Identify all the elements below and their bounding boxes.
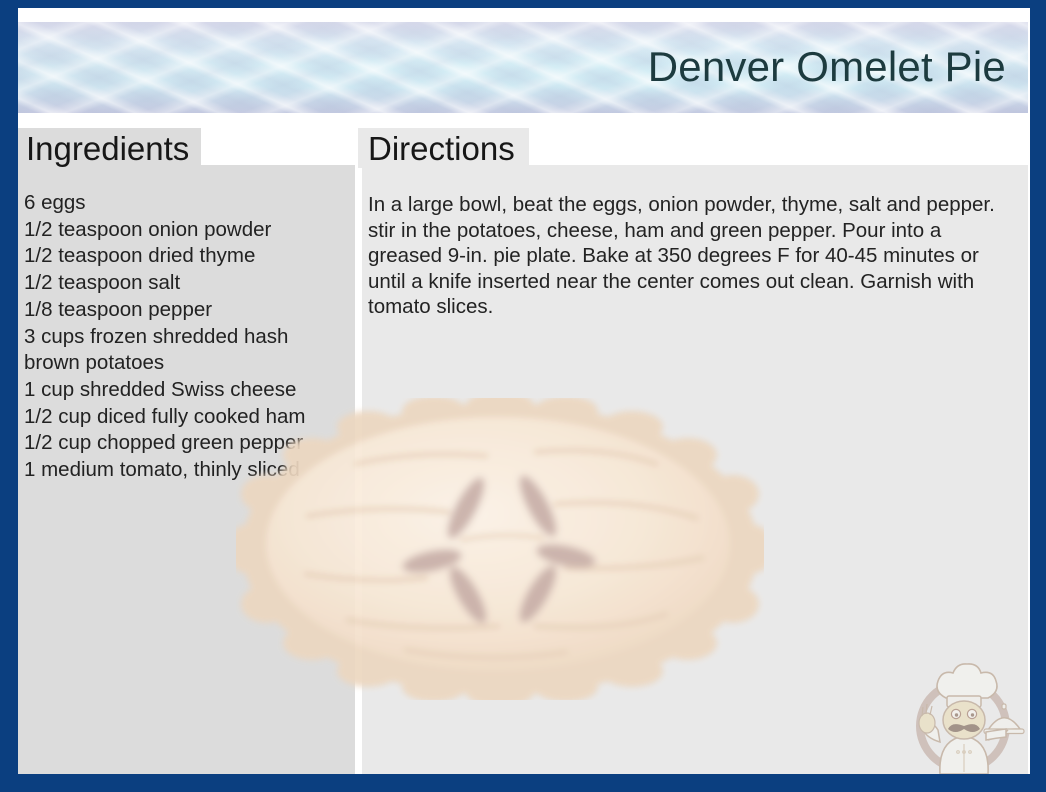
list-item: 1/8 teaspoon pepper: [24, 297, 334, 324]
list-item: 1/2 teaspoon salt: [24, 270, 334, 297]
list-item: 1/2 teaspoon onion powder: [24, 217, 334, 244]
list-item: 1 cup shredded Swiss cheese: [24, 377, 334, 404]
directions-text: In a large bowl, beat the eggs, onion po…: [368, 192, 998, 320]
title-banner: Denver Omelet Pie: [18, 22, 1028, 113]
ingredients-list: 6 eggs 1/2 teaspoon onion powder 1/2 tea…: [24, 190, 334, 484]
list-item: 1/2 cup diced fully cooked ham: [24, 404, 334, 431]
slide-canvas: Denver Omelet Pie Ingredients 6 eggs 1/2…: [0, 0, 1046, 792]
page-title: Denver Omelet Pie: [648, 46, 1006, 88]
list-item: 1/2 cup chopped green pepper: [24, 430, 334, 457]
ingredients-heading: Ingredients: [26, 128, 326, 170]
list-item: 1/2 teaspoon dried thyme: [24, 243, 334, 270]
list-item: 6 eggs: [24, 190, 334, 217]
list-item: 3 cups frozen shredded hash brown potato…: [24, 324, 334, 377]
directions-heading: Directions: [368, 128, 708, 170]
list-item: 1 medium tomato, thinly sliced: [24, 457, 334, 484]
